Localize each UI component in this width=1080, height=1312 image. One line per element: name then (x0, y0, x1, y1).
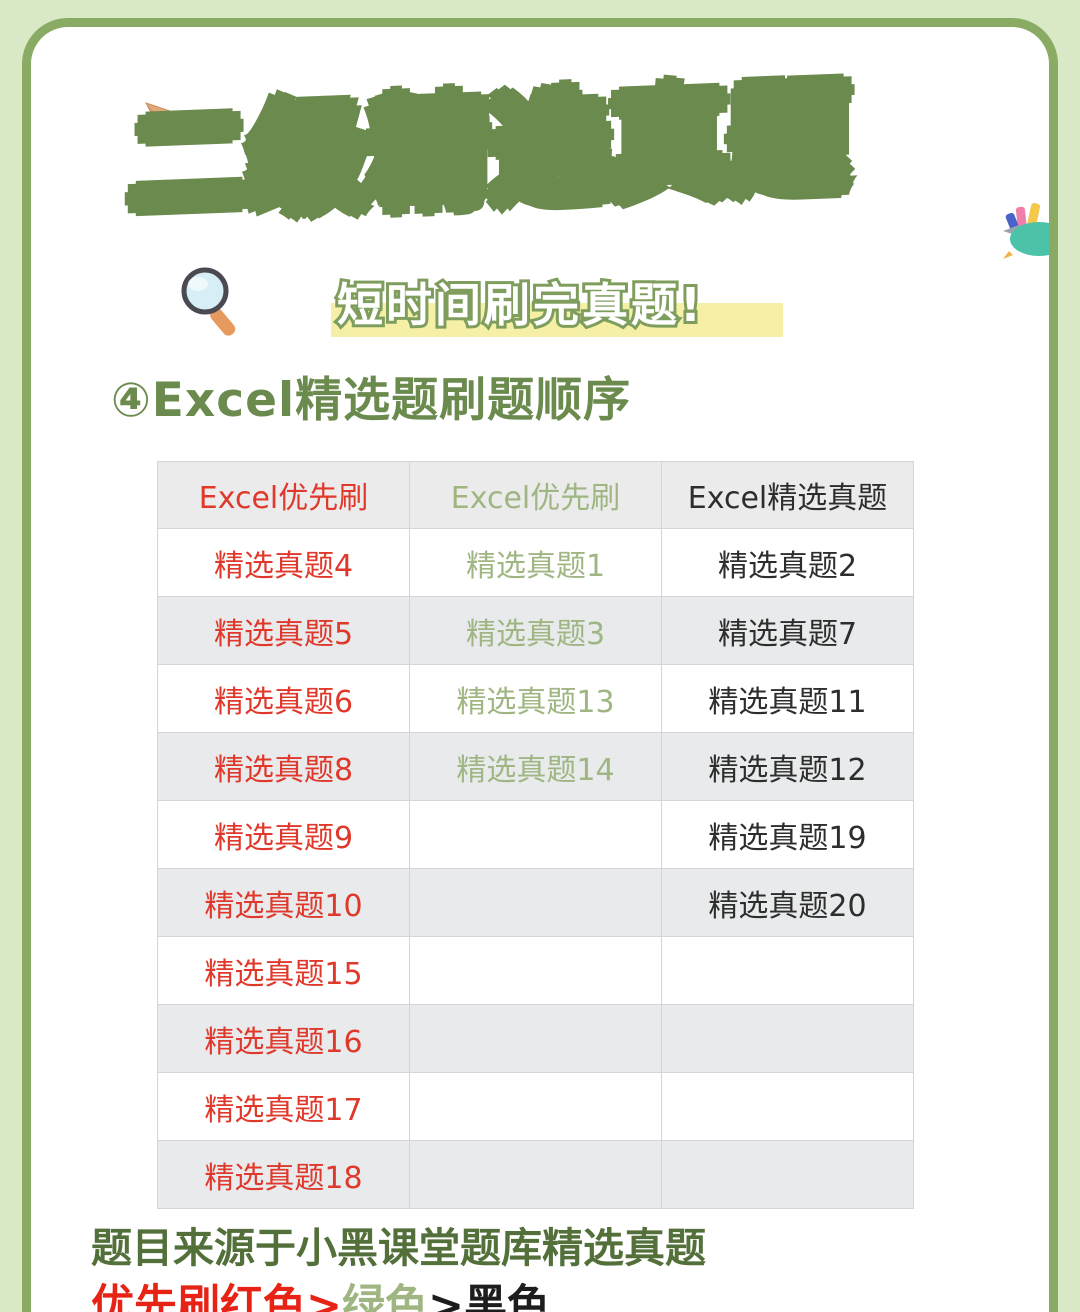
table-row: 精选真题17 (158, 1073, 914, 1141)
table-cell (662, 1073, 914, 1141)
table-cell: 精选真题1 (410, 529, 662, 597)
page-title: 二级精选真题 (131, 65, 851, 241)
table-cell: 精选真题9 (158, 801, 410, 869)
table-cell (662, 937, 914, 1005)
priority-separator-2: > (428, 1281, 464, 1312)
footer-priority-note: 优先刷红色>绿色>黑色 (91, 1280, 1031, 1312)
table-row: 精选真题5精选真题3精选真题7 (158, 597, 914, 665)
table-cell (662, 1005, 914, 1073)
priority-prefix: 优先刷 (91, 1281, 220, 1312)
magnifier-icon (171, 263, 253, 343)
priority-red-label: 红色 (220, 1281, 306, 1312)
table-cell: 精选真题2 (662, 529, 914, 597)
footer-notes: 题目来源于小黑课堂题库精选真题 优先刷红色>绿色>黑色 (91, 1223, 1031, 1312)
content-card: 二级精选真题 短时间刷完真题! ④Excel精选题刷题顺序 Excel优先刷 E… (22, 18, 1058, 1312)
footer-source-note: 题目来源于小黑课堂题库精选真题 (91, 1223, 1031, 1274)
table-cell: 精选真题10 (158, 869, 410, 937)
table-cell (662, 1141, 914, 1209)
table-row: 精选真题15 (158, 937, 914, 1005)
priority-separator-1: > (306, 1281, 342, 1312)
table-body: 精选真题4精选真题1精选真题2精选真题5精选真题3精选真题7精选真题6精选真题1… (158, 529, 914, 1209)
table-cell (410, 869, 662, 937)
table-cell: 精选真题5 (158, 597, 410, 665)
table-cell: 精选真题8 (158, 733, 410, 801)
table-cell: 精选真题7 (662, 597, 914, 665)
table-header-row: Excel优先刷 Excel优先刷 Excel精选真题 (158, 462, 914, 529)
table-cell: 精选真题16 (158, 1005, 410, 1073)
column-header-selected: Excel精选真题 (662, 462, 914, 529)
table-row: 精选真题18 (158, 1141, 914, 1209)
subtitle-row: 短时间刷完真题! (31, 255, 1058, 349)
title-block: 二级精选真题 (31, 79, 1058, 239)
table-row: 精选真题16 (158, 1005, 914, 1073)
table-cell: 精选真题6 (158, 665, 410, 733)
subtitle-text: 短时间刷完真题! (337, 269, 704, 335)
table-cell: 精选真题19 (662, 801, 914, 869)
table-cell (410, 1141, 662, 1209)
table-row: 精选真题8精选真题14精选真题12 (158, 733, 914, 801)
column-header-priority-green: Excel优先刷 (410, 462, 662, 529)
priority-green-label: 绿色 (342, 1281, 428, 1312)
column-header-priority-red: Excel优先刷 (158, 462, 410, 529)
table-cell (410, 1005, 662, 1073)
table-row: 精选真题10精选真题20 (158, 869, 914, 937)
pencil-case-icon (999, 197, 1058, 261)
table-cell (410, 801, 662, 869)
table-cell: 精选真题4 (158, 529, 410, 597)
table-cell (410, 1073, 662, 1141)
practice-order-table: Excel优先刷 Excel优先刷 Excel精选真题 精选真题4精选真题1精选… (157, 461, 914, 1209)
table-cell: 精选真题15 (158, 937, 410, 1005)
table-cell (410, 937, 662, 1005)
table-cell: 精选真题11 (662, 665, 914, 733)
table-row: 精选真题4精选真题1精选真题2 (158, 529, 914, 597)
table-cell: 精选真题20 (662, 869, 914, 937)
table-row: 精选真题6精选真题13精选真题11 (158, 665, 914, 733)
priority-black-label: 黑色 (464, 1281, 550, 1312)
table-cell: 精选真题18 (158, 1141, 410, 1209)
section-heading: ④Excel精选题刷题顺序 (111, 361, 631, 430)
table-cell: 精选真题13 (410, 665, 662, 733)
table-row: 精选真题9精选真题19 (158, 801, 914, 869)
table-cell: 精选真题12 (662, 733, 914, 801)
table-cell: 精选真题17 (158, 1073, 410, 1141)
table-cell: 精选真题3 (410, 597, 662, 665)
table-cell: 精选真题14 (410, 733, 662, 801)
